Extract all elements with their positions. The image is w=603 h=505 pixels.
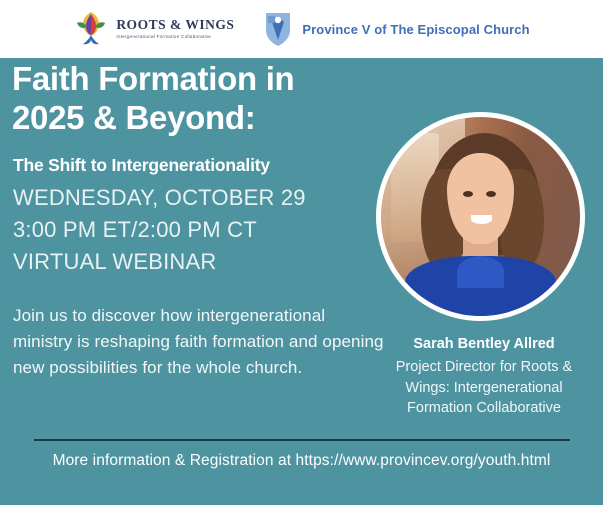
province-v-wordmark: Province V of The Episcopal Church [302,22,529,37]
registration-footer: More information & Registration at https… [0,452,603,470]
roots-and-wings-title: ROOTS & WINGS [116,18,234,32]
event-format: VIRTUAL WEBINAR [13,246,413,278]
speaker-role: Project Director for Roots & Wings: Inte… [380,357,588,419]
event-description: Join us to discover how intergenerationa… [13,303,388,380]
webinar-poster: ROOTS & WINGS Intergenerational Formatio… [0,0,603,505]
photo-blouse-trim [457,256,505,288]
headline-line-1: Faith Formation in [12,60,412,99]
speaker-name: Sarah Bentley Allred [386,336,582,352]
headline-subtitle: The Shift to Intergenerationality [13,155,408,176]
province-v-logo: Province V of The Episcopal Church [262,10,529,48]
event-date: WEDNESDAY, OCTOBER 29 [13,182,413,214]
roots-and-wings-logo-icon [73,9,109,49]
photo-eye-right [486,191,496,197]
roots-and-wings-subtitle: Intergenerational Formation Collaborativ… [116,35,234,40]
speaker-photo-frame [376,112,585,321]
divider [34,439,570,441]
headline: Faith Formation in 2025 & Beyond: [12,60,412,138]
speaker-headshot [381,117,580,316]
photo-eye-left [463,191,473,197]
headline-line-2: 2025 & Beyond: [12,99,412,138]
event-details: WEDNESDAY, OCTOBER 29 3:00 PM ET/2:00 PM… [13,182,413,278]
logo-header-band: ROOTS & WINGS Intergenerational Formatio… [0,0,603,58]
province-v-shield-icon [262,10,294,48]
event-time: 3:00 PM ET/2:00 PM CT [13,214,413,246]
roots-and-wings-wordmark: ROOTS & WINGS Intergenerational Formatio… [116,18,234,39]
roots-and-wings-logo: ROOTS & WINGS Intergenerational Formatio… [73,9,234,49]
